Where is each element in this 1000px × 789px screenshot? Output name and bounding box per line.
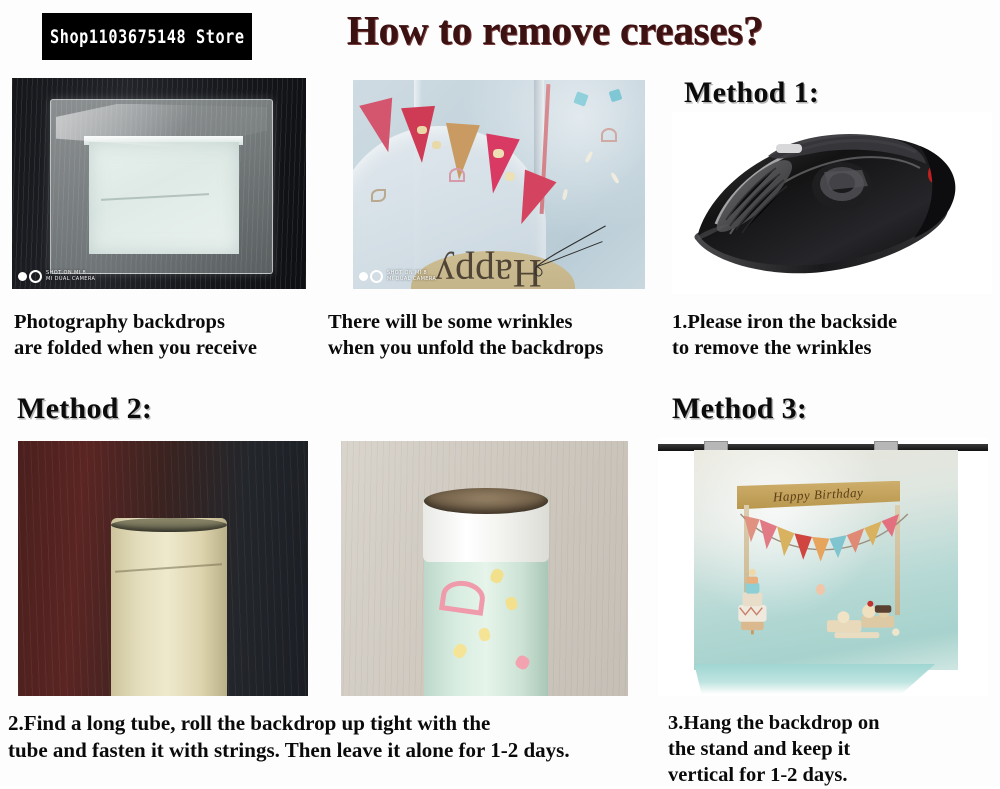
confetti-squiggle-1 [449, 168, 465, 182]
printed-yellow-dot-3 [451, 642, 469, 660]
printed-pink-dot [513, 654, 531, 672]
confetti-squiggle-3 [601, 128, 617, 142]
instruction-sheet: Shop1103675148 Store How to remove creas… [0, 0, 1000, 786]
watermark-line-1: SHOT ON MI 8 [387, 270, 427, 276]
dessert-table-print [821, 593, 911, 641]
photo-steam-iron [672, 112, 992, 294]
camera-watermark: SHOT ON MI 8 MI DUAL CAMERA [18, 270, 95, 284]
caption-method-2: 2.Find a long tube, roll the backdrop up… [8, 710, 570, 764]
confetti-dot-3 [493, 149, 504, 158]
confetti-squiggle-2 [371, 189, 386, 202]
pennant-2 [401, 106, 439, 164]
confetti-dot-4 [505, 172, 515, 181]
printed-bow-string [517, 218, 622, 281]
method-2-heading: Method 2: [17, 392, 152, 426]
printed-yellow-dot-4 [477, 627, 490, 642]
watermark-line-2: MI DUAL CAMERA [46, 276, 95, 282]
photo-backdrop-on-stand: Happy Birthday [658, 438, 988, 696]
printed-pink-squiggle [439, 578, 487, 616]
caption-method-3: 3.Hang the backdrop on the stand and kee… [668, 710, 880, 789]
printed-balloon [816, 584, 825, 595]
printed-yellow-dot-2 [504, 595, 518, 611]
camera-lens-icon [359, 270, 383, 283]
iron-illustration [672, 112, 992, 294]
folded-backdrop [89, 142, 239, 254]
caption-folded-backdrops: Photography backdrops are folded when yo… [14, 309, 257, 361]
plastic-bag [50, 99, 273, 274]
birthday-cake-print [726, 564, 779, 634]
confetti-dot-1 [417, 126, 427, 134]
watermark-line-1: SHOT ON MI 8 [46, 270, 86, 276]
method-3-heading: Method 3: [672, 392, 807, 426]
backdrop-floor-section [694, 664, 935, 694]
confetti-dot-2 [432, 141, 441, 149]
banner-label: Happy Birthday [773, 485, 864, 506]
page-title: How to remove creases? [290, 9, 820, 52]
watermark-text: SHOT ON MI 8 MI DUAL CAMERA [387, 270, 436, 284]
watermark-text: SHOT ON MI 8 MI DUAL CAMERA [46, 270, 95, 284]
photo-cardboard-tube [18, 441, 308, 696]
rolled-backdrop [424, 497, 547, 696]
photo-wrinkled-backdrop: Happy SHOT ON MI 8 MI DUAL CAMERA [353, 80, 645, 289]
watermark-line-2: MI DUAL CAMERA [387, 276, 436, 282]
tube-opening [424, 488, 547, 514]
printed-yellow-dot-1 [489, 567, 506, 585]
caption-wrinkles: There will be some wrinkles when you unf… [328, 309, 603, 361]
camera-watermark: SHOT ON MI 8 MI DUAL CAMERA [359, 270, 436, 284]
photo-backdrop-rolled-on-tube [341, 441, 628, 696]
method-1-heading: Method 1: [684, 76, 819, 110]
caption-method-1: 1.Please iron the backside to remove the… [672, 309, 897, 361]
hanging-backdrop: Happy Birthday [694, 450, 958, 670]
shop-name-label: Shop1103675148 Store [50, 26, 245, 47]
camera-lens-icon [18, 270, 42, 283]
photo-bagged-backdrop: SHOT ON MI 8 MI DUAL CAMERA [12, 78, 306, 289]
happy-birthday-banner: Happy Birthday [737, 481, 901, 510]
cardboard-tube [111, 518, 227, 697]
shop-name-badge: Shop1103675148 Store [42, 13, 252, 60]
